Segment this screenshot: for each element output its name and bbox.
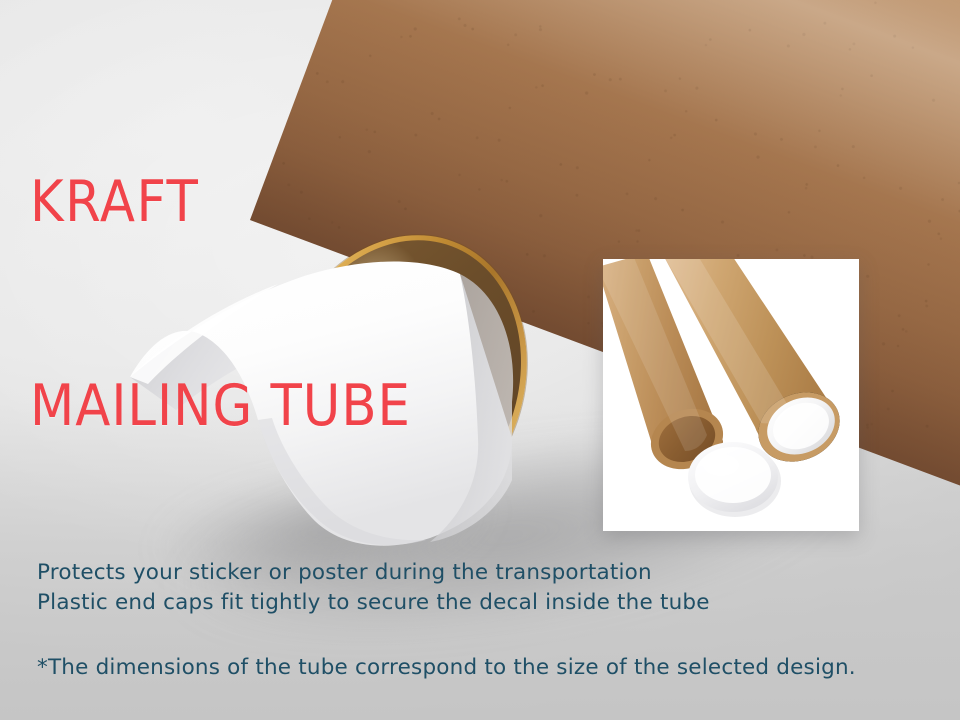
page-title: KRAFT MAILING TUBE [30, 32, 411, 576]
inset-product-photo [603, 259, 859, 531]
headline-line-2: MAILING TUBE [30, 372, 411, 440]
benefit-list: Protects your sticker or poster during t… [37, 558, 710, 618]
product-banner: KRAFT MAILING TUBE Protects your sticker… [0, 0, 960, 720]
benefit-line-2: Plastic end caps fit tightly to secure t… [37, 588, 710, 618]
footnote: *The dimensions of the tube correspond t… [37, 654, 856, 682]
benefit-line-1: Protects your sticker or poster during t… [37, 558, 710, 588]
headline-line-1: KRAFT [30, 168, 411, 236]
